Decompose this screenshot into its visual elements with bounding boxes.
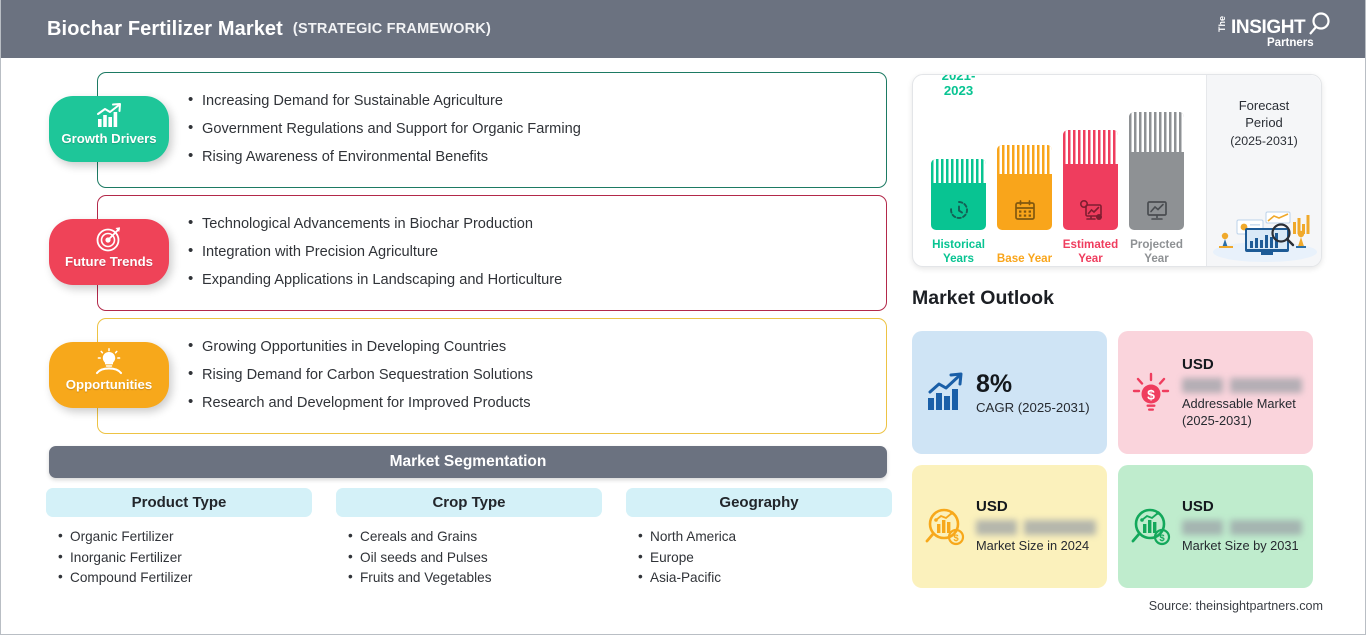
forecast-gear-chart-icon	[1078, 198, 1104, 222]
list-item: Increasing Demand for Sustainable Agricu…	[202, 87, 886, 115]
forecast-line-1: Forecast	[1207, 97, 1321, 114]
list-item: Organic Fertilizer	[58, 527, 312, 548]
svg-text:INSIGHT: INSIGHT	[1231, 17, 1306, 38]
badge-label: Growth Drivers	[61, 131, 156, 146]
lightbulb-dollar-icon: $	[1128, 370, 1174, 416]
outlook-card-addressable-market: $ USD Addressable Market (2025-2031)	[1118, 331, 1313, 454]
section-panel-future-trends: Technological Advancements in Biochar Pr…	[97, 195, 887, 311]
value-placeholder-blurred	[976, 520, 1096, 535]
bar-chart-growth-icon	[922, 370, 968, 416]
market-outlook-title: Market Outlook	[912, 287, 1054, 310]
column-list: Organic Fertilizer Inorganic Fertilizer …	[58, 527, 312, 589]
currency-label: USD	[976, 498, 1097, 515]
outlook-card-cagr: 8% CAGR (2025-2031)	[912, 331, 1107, 454]
left-column: Increasing Demand for Sustainable Agricu…	[1, 58, 911, 635]
forecast-period-panel: Forecast Period (2025-2031)	[1206, 75, 1321, 267]
bar-group-projected: 2031 Projected Year	[1129, 112, 1184, 230]
bar-group-estimated: 2025 Estimated Year	[1063, 130, 1118, 230]
outlook-card-market-size-2024: $ USD Market Size in 2024	[912, 465, 1107, 588]
forecast-bar-chart: 2021-2023 Historical Years 2024	[927, 75, 1197, 267]
list-item: Asia-Pacific	[638, 568, 892, 589]
list-item: Inorganic Fertilizer	[58, 548, 312, 569]
card-body: USD Market Size in 2024	[976, 498, 1097, 555]
source-label: Source: theinsightpartners.com	[1149, 599, 1323, 613]
badge-label: Future Trends	[65, 254, 153, 269]
cagr-value: 8%	[976, 370, 1097, 398]
list-item: Technological Advancements in Biochar Pr…	[202, 210, 886, 238]
forecast-line-2: Period	[1207, 114, 1321, 131]
card-body: USD Market Size by 2031	[1182, 498, 1303, 555]
list-item: Rising Awareness of Environmental Benefi…	[202, 143, 886, 171]
section-panel-growth-drivers: Increasing Demand for Sustainable Agricu…	[97, 72, 887, 188]
svg-text:$: $	[1147, 386, 1155, 402]
card-caption: Market Size in 2024	[976, 538, 1097, 555]
target-dart-icon	[94, 225, 124, 253]
column-header: Geography	[626, 488, 892, 517]
right-column: 2021-2023 Historical Years 2024	[906, 58, 1366, 635]
forecast-period-title: Forecast Period (2025-2031)	[1207, 97, 1321, 150]
badge-opportunities[interactable]: Opportunities	[49, 342, 169, 408]
bar-stripes	[997, 145, 1052, 174]
bar	[1063, 130, 1118, 230]
currency-label: USD	[1182, 356, 1303, 373]
column-list: Cereals and Grains Oil seeds and Pulses …	[348, 527, 602, 589]
bar-year-label: 2021-2023	[931, 74, 986, 98]
bar-caption: Estimated Year	[1055, 238, 1126, 266]
list-item: Fruits and Vegetables	[348, 568, 602, 589]
bar	[931, 159, 986, 230]
badge-future-trends[interactable]: Future Trends	[49, 219, 169, 285]
cagr-caption: CAGR (2025-2031)	[976, 400, 1097, 415]
outlook-card-market-size-2031: $ USD Market Size by 2031	[1118, 465, 1313, 588]
bar-group-historical: 2021-2023 Historical Years	[931, 159, 986, 230]
segmentation-column-geography: Geography North America Europe Asia-Paci…	[626, 488, 892, 628]
bar-caption: Base Year	[989, 252, 1060, 266]
segmentation-column-product-type: Product Type Organic Fertilizer Inorgani…	[46, 488, 312, 628]
badge-growth-drivers[interactable]: Growth Drivers	[49, 96, 169, 162]
magnifier-chart-dollar-icon: $	[1128, 504, 1174, 550]
bar-caption: Historical Years	[923, 238, 994, 266]
page-header: Biochar Fertilizer Market (STRATEGIC FRA…	[1, 0, 1366, 58]
bar-stripes	[931, 159, 986, 183]
calendar-icon	[1012, 198, 1038, 222]
value-placeholder-blurred	[1182, 378, 1302, 393]
list-item: Integration with Precision Agriculture	[202, 238, 886, 266]
bar	[997, 145, 1052, 230]
svg-text:Partners: Partners	[1267, 37, 1314, 49]
card-caption: Addressable Market (2025-2031)	[1182, 396, 1303, 429]
list-item: Compound Fertilizer	[58, 568, 312, 589]
page-title: Biochar Fertilizer Market	[47, 18, 283, 41]
list-item: North America	[638, 527, 892, 548]
clock-history-icon	[946, 198, 972, 222]
lightbulb-hand-icon	[94, 348, 124, 376]
currency-label: USD	[1182, 498, 1303, 515]
opportunities-list: Growing Opportunities in Developing Coun…	[98, 319, 886, 417]
list-item: Cereals and Grains	[348, 527, 602, 548]
forecast-line-3: (2025-2031)	[1207, 133, 1321, 150]
column-list: North America Europe Asia-Pacific	[638, 527, 892, 589]
svg-text:The: The	[1217, 16, 1227, 32]
business-analytics-illustration	[1211, 200, 1319, 262]
forecast-timeline-card: 2021-2023 Historical Years 2024	[912, 74, 1322, 267]
svg-text:$: $	[1159, 533, 1165, 544]
insight-partners-logo: The INSIGHT Partners	[1209, 8, 1337, 50]
card-body: 8% CAGR (2025-2031)	[976, 370, 1097, 415]
value-placeholder-blurred	[1182, 520, 1302, 535]
page-subtitle: (STRATEGIC FRAMEWORK)	[293, 21, 491, 37]
column-header: Crop Type	[336, 488, 602, 517]
segmentation-columns: Product Type Organic Fertilizer Inorgani…	[46, 488, 892, 628]
bar	[1129, 112, 1184, 230]
bar-chart-arrow-up-icon	[94, 102, 124, 130]
bar-caption: Projected Year	[1121, 238, 1192, 266]
list-item: Expanding Applications in Landscaping an…	[202, 266, 886, 294]
column-header: Product Type	[46, 488, 312, 517]
list-item: Growing Opportunities in Developing Coun…	[202, 333, 886, 361]
list-item: Europe	[638, 548, 892, 569]
bar-stripes	[1129, 112, 1184, 152]
market-segmentation-title: Market Segmentation	[390, 453, 547, 471]
list-item: Government Regulations and Support for O…	[202, 115, 886, 143]
magnifier-chart-dollar-icon: $	[922, 504, 968, 550]
market-outlook-cards: 8% CAGR (2025-2031) $	[912, 331, 1322, 588]
list-item: Oil seeds and Pulses	[348, 548, 602, 569]
card-caption: Market Size by 2031	[1182, 538, 1303, 555]
list-item: Rising Demand for Carbon Sequestration S…	[202, 361, 886, 389]
segmentation-column-crop-type: Crop Type Cereals and Grains Oil seeds a…	[336, 488, 602, 628]
bar-stripes	[1063, 130, 1118, 164]
card-body: USD Addressable Market (2025-2031)	[1182, 356, 1303, 429]
bar-group-base: 2024	[997, 145, 1052, 230]
growth-drivers-list: Increasing Demand for Sustainable Agricu…	[98, 73, 886, 171]
svg-text:$: $	[953, 533, 959, 544]
badge-label: Opportunities	[66, 377, 152, 392]
market-segmentation-bar: Market Segmentation	[49, 446, 887, 478]
future-trends-list: Technological Advancements in Biochar Pr…	[98, 196, 886, 294]
section-panel-opportunities: Growing Opportunities in Developing Coun…	[97, 318, 887, 434]
list-item: Research and Development for Improved Pr…	[202, 389, 886, 417]
infographic-page: Biochar Fertilizer Market (STRATEGIC FRA…	[0, 0, 1366, 635]
presentation-chart-icon	[1144, 198, 1170, 222]
